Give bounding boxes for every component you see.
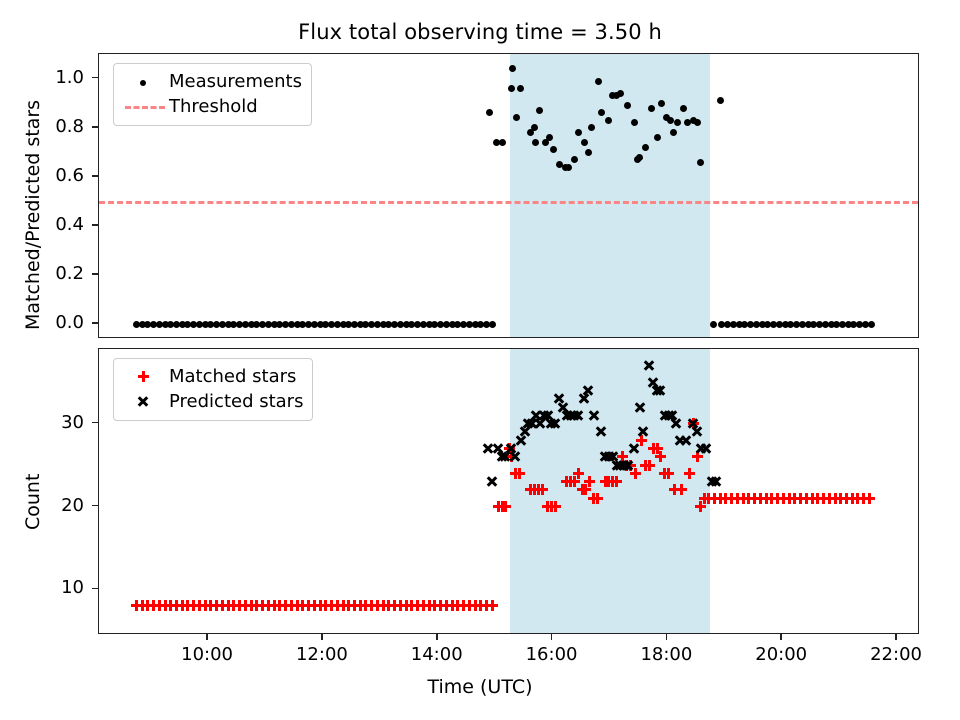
y-tick-label: 0.4 (28, 214, 84, 235)
data-point-measurement (499, 139, 506, 146)
x-tick-mark (206, 634, 208, 640)
legend-label-threshold: Threshold (167, 96, 258, 117)
x-tick-mark (551, 634, 553, 640)
y-tick-mark (92, 175, 98, 177)
matched-plus-icon (123, 366, 167, 388)
y-tick-mark (92, 77, 98, 79)
y-tick-label: 20 (28, 495, 84, 516)
y-tick-label: 0.8 (28, 116, 84, 137)
x-tick-label: 12:00 (282, 644, 362, 665)
x-tick-label: 16:00 (512, 644, 592, 665)
y-tick-label: 0.0 (28, 312, 84, 333)
data-point-measurement (648, 105, 655, 112)
data-point-measurement (667, 117, 674, 124)
data-point-measurement (697, 159, 704, 166)
data-point-measurement (617, 90, 624, 97)
data-point-measurement (624, 102, 631, 109)
y-tick-mark (92, 126, 98, 128)
y-tick-label: 0.2 (28, 263, 84, 284)
data-point-measurement (486, 109, 493, 116)
x-tick-label: 22:00 (856, 644, 936, 665)
x-tick-label: 14:00 (397, 644, 477, 665)
data-point-measurement (658, 100, 665, 107)
x-tick-label: 20:00 (741, 644, 821, 665)
data-point-measurement (531, 124, 538, 131)
data-point-measurement (717, 97, 724, 104)
data-point-measurement (694, 119, 701, 126)
y-tick-label: 0.6 (28, 165, 84, 186)
threshold-line (99, 201, 918, 204)
data-point-measurement (631, 119, 638, 126)
y-tick-label: 1.0 (28, 67, 84, 88)
y-tick-mark (92, 588, 98, 590)
data-point-measurement (489, 321, 496, 328)
data-point-measurement (581, 139, 588, 146)
x-tick-label: 18:00 (626, 644, 706, 665)
predicted-cross-icon (123, 391, 167, 413)
y-tick-mark (92, 422, 98, 424)
x-tick-mark (321, 634, 323, 640)
measurements-dot-icon (123, 71, 167, 93)
data-point-measurement (680, 105, 687, 112)
data-point-measurement (595, 78, 602, 85)
data-point-measurement (636, 154, 643, 161)
x-tick-mark (666, 634, 668, 640)
y-tick-mark (92, 273, 98, 275)
legend-item-predicted-stars: Predicted stars (123, 389, 303, 414)
count-panel: Matched stars Predicted stars (98, 348, 919, 634)
data-point-measurement (565, 164, 572, 171)
x-tick-label: 10:00 (167, 644, 247, 665)
x-tick-mark (436, 634, 438, 640)
legend-label-predicted-stars: Predicted stars (167, 391, 303, 412)
y-tick-label: 30 (28, 412, 84, 433)
y-tick-mark (92, 322, 98, 324)
data-point-measurement (642, 144, 649, 151)
data-point-measurement (532, 139, 539, 146)
data-point-measurement (585, 149, 592, 156)
y-tick-label: 10 (28, 577, 84, 598)
data-point-measurement (575, 129, 582, 136)
data-point-measurement (571, 156, 578, 163)
threshold-dash-icon (123, 96, 167, 118)
ratio-panel: Measurements Threshold (98, 53, 919, 338)
data-point-measurement (868, 321, 875, 328)
data-point-measurement (670, 129, 677, 136)
legend-item-threshold: Threshold (123, 94, 302, 119)
page-title: Flux total observing time = 3.50 h (0, 20, 960, 44)
y-tick-mark (92, 505, 98, 507)
data-point-measurement (710, 321, 717, 328)
legend-label-matched-stars: Matched stars (167, 366, 296, 387)
legend-item-measurements: Measurements (123, 69, 302, 94)
x-tick-mark (780, 634, 782, 640)
legend-label-measurements: Measurements (167, 71, 302, 92)
legend-item-matched-stars: Matched stars (123, 364, 303, 389)
x-tick-mark (895, 634, 897, 640)
legend-count-panel: Matched stars Predicted stars (113, 358, 313, 421)
data-point-measurement (654, 134, 661, 141)
y-tick-mark (92, 224, 98, 226)
figure: Flux total observing time = 3.50 h Match… (0, 0, 960, 720)
x-axis-label: Time (UTC) (0, 676, 960, 698)
legend-ratio-panel: Measurements Threshold (113, 63, 312, 126)
data-point-measurement (508, 85, 515, 92)
